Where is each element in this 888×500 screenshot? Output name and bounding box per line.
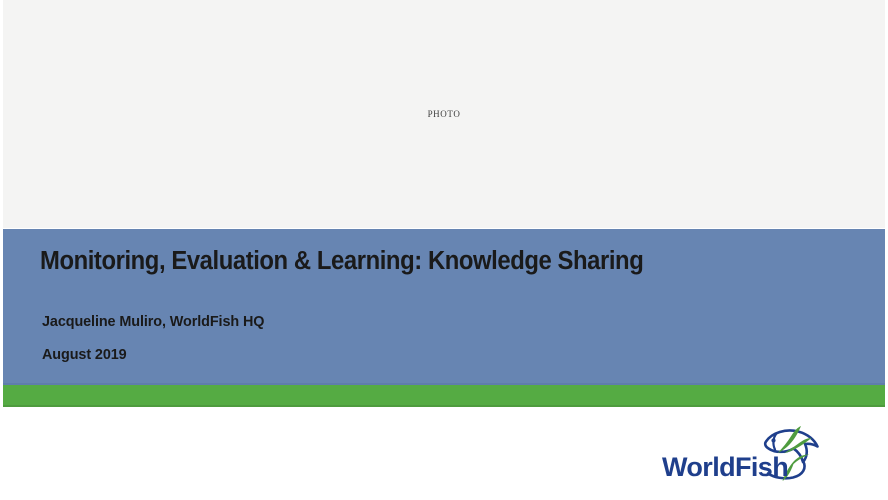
slide-date: August 2019 bbox=[42, 346, 127, 363]
photo-placeholder-region: PHOTO bbox=[3, 0, 885, 228]
fish-eye-icon bbox=[771, 438, 775, 442]
worldfish-logo: WorldFish bbox=[662, 420, 827, 482]
photo-placeholder-label: PHOTO bbox=[428, 109, 461, 119]
green-accent-bar bbox=[3, 385, 885, 407]
worldfish-wordmark: WorldFish bbox=[662, 452, 788, 482]
title-band: Monitoring, Evaluation & Learning: Knowl… bbox=[3, 229, 885, 385]
slide-presenter: Jacqueline Muliro, WorldFish HQ bbox=[42, 313, 264, 330]
slide-footer: WorldFish bbox=[3, 407, 885, 500]
slide-title: Monitoring, Evaluation & Learning: Knowl… bbox=[40, 247, 643, 276]
presentation-slide: PHOTO Monitoring, Evaluation & Learning:… bbox=[0, 0, 888, 500]
